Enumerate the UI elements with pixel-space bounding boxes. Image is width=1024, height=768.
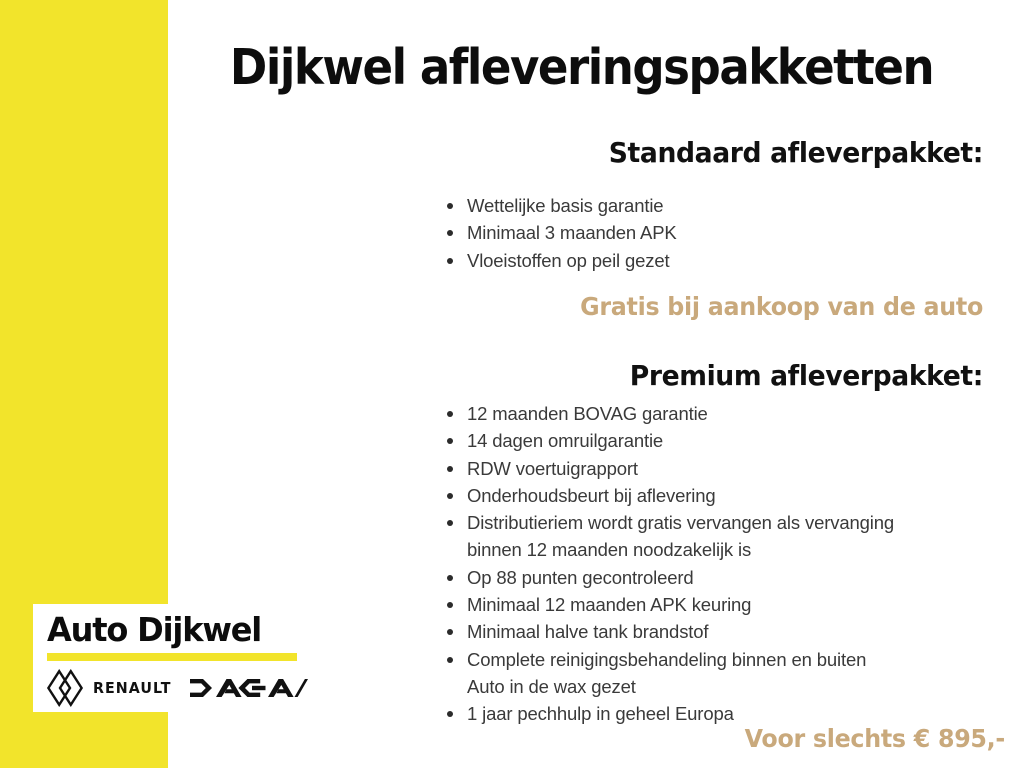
list-item: Wettelijke basis garantie bbox=[445, 192, 1005, 219]
list-item-label: Wettelijke basis garantie bbox=[467, 195, 663, 216]
list-item-label: Op 88 punten gecontroleerd bbox=[467, 567, 694, 588]
list-item: Minimaal 12 maanden APK keuring bbox=[445, 591, 1005, 618]
premium-section-heading: Premium afleverpakket: bbox=[220, 359, 983, 392]
standaard-feature-list: Wettelijke basis garantie Minimaal 3 maa… bbox=[445, 192, 1005, 274]
list-item: Minimaal 3 maanden APK bbox=[445, 219, 1005, 246]
list-item: 12 maanden BOVAG garantie bbox=[445, 400, 1005, 427]
page-title: Dijkwel afleveringspakketten bbox=[212, 42, 951, 93]
logo-divider-bar bbox=[47, 653, 297, 661]
list-item: Op 88 punten gecontroleerd bbox=[445, 564, 1005, 591]
list-item-label: Minimaal 12 maanden APK keuring bbox=[467, 594, 751, 615]
list-item: Complete reinigingsbehandeling binnen en… bbox=[445, 646, 1005, 701]
list-item-label: Onderhoudsbeurt bij aflevering bbox=[467, 485, 716, 506]
standaard-accent-note: Gratis bij aankoop van de auto bbox=[220, 292, 983, 321]
list-item-label: 14 dagen omruilgarantie bbox=[467, 430, 663, 451]
renault-diamond-icon bbox=[45, 669, 85, 712]
list-item-label: RDW voertuigrapport bbox=[467, 458, 638, 479]
list-item-label: Minimaal 3 maanden APK bbox=[467, 222, 677, 243]
standaard-section-heading: Standaard afleverpakket: bbox=[220, 136, 983, 169]
list-item: RDW voertuigrapport bbox=[445, 455, 1005, 482]
list-item-label: 1 jaar pechhulp in geheel Europa bbox=[467, 703, 734, 724]
premium-price-note: Voor slechts € 895,- bbox=[242, 724, 1005, 753]
dealer-logo-card: Auto Dijkwel RENAULT bbox=[33, 604, 310, 712]
list-item-label: Complete reinigingsbehandeling binnen en… bbox=[467, 649, 866, 670]
list-item-label-continuation: binnen 12 maanden noodzakelijk is bbox=[467, 536, 1005, 563]
premium-feature-list: 12 maanden BOVAG garantie 14 dagen omrui… bbox=[445, 400, 1005, 728]
list-item-label: Distributieriem wordt gratis vervangen a… bbox=[467, 512, 894, 533]
list-item-label: Vloeistoffen op peil gezet bbox=[467, 250, 670, 271]
dacia-wordmark-icon bbox=[190, 677, 308, 704]
list-item: Vloeistoffen op peil gezet bbox=[445, 247, 1005, 274]
list-item: Minimaal halve tank brandstof bbox=[445, 618, 1005, 645]
list-item-label-continuation: Auto in de wax gezet bbox=[467, 673, 1005, 700]
list-item-label: Minimaal halve tank brandstof bbox=[467, 621, 708, 642]
brand-logos-row: RENAULT bbox=[45, 668, 305, 708]
poster-canvas: Dijkwel afleveringspakketten Standaard a… bbox=[0, 0, 1024, 768]
renault-label: RENAULT bbox=[93, 679, 172, 697]
list-item-label: 12 maanden BOVAG garantie bbox=[467, 403, 708, 424]
list-item: Onderhoudsbeurt bij aflevering bbox=[445, 482, 1005, 509]
list-item: Distributieriem wordt gratis vervangen a… bbox=[445, 509, 1005, 564]
list-item: 14 dagen omruilgarantie bbox=[445, 427, 1005, 454]
dealer-wordmark: Auto Dijkwel bbox=[47, 610, 261, 649]
